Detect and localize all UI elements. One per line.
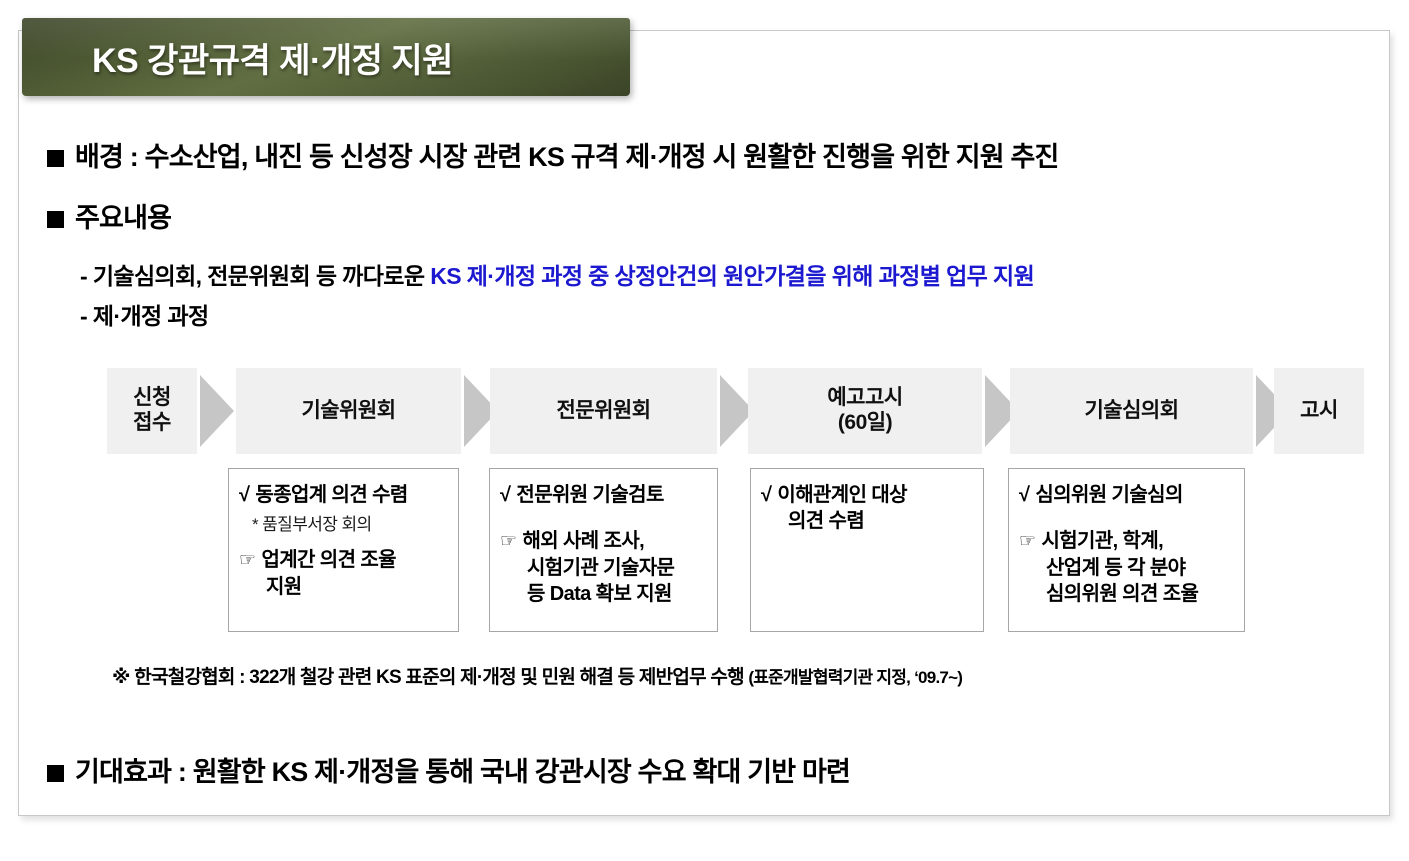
flow-step-3-line1: 예고고시 [827,386,902,409]
flow-step-3: 예고고시 (60일) [748,368,982,454]
detail-box-3-hand-text-line2: 산업계 등 각 분야 [1046,555,1236,581]
check-mark-icon: √ [500,482,510,508]
footnote-mark-icon: ※ [112,667,130,688]
page-title: KS 강관규격 제·개정 지원 [22,33,453,82]
detail-box-0-sub-note: * 품질부서장 회의 [252,510,450,535]
effect-bullet-row: 기대효과 : 원활한 KS 제·개정을 통해 국내 강관시장 수요 확대 기반 … [47,750,850,789]
detail-box-2-check-text: 이해관계인 대상 [777,482,907,508]
detail-box-3-check-row: √ 심의위원 기술심의 [1019,482,1236,508]
main-bullet-label: 주요내용 [75,196,171,235]
background-bullet-label: 배경 : 수소산업, 내진 등 신성장 시장 관련 KS 규격 제·개정 시 원… [75,135,1059,174]
flow-step-3-line2: (60일) [838,411,892,434]
flow-step-1-line1: 기술위원회 [301,399,395,424]
detail-box-1-hand-row: ☞ 해외 사례 조사, [500,528,709,554]
main-bullet-row: 주요내용 [47,196,171,235]
sub-item-2: - 제·개정 과정 [80,297,209,331]
detail-box-2: √ 이해관계인 대상 의견 수렴 [750,468,984,632]
check-mark-icon: √ [1019,482,1029,508]
detail-box-0: √ 동종업계 의견 수렴 * 품질부서장 회의 ☞ 업계간 의견 조율 지원 [228,468,459,632]
detail-box-0-check-row: √ 동종업계 의견 수렴 [239,482,450,508]
flow-arrow-0-icon [200,375,234,447]
check-mark-icon: √ [761,482,771,508]
flow-step-5-line1: 고시 [1300,399,1338,424]
detail-box-3-hand-row: ☞ 시험기관, 학계, [1019,528,1236,554]
square-bullet-icon [47,211,64,228]
slide-root: KS 강관규격 제·개정 지원 배경 : 수소산업, 내진 등 신성장 시장 관… [0,0,1409,861]
detail-box-3: √ 심의위원 기술심의 ☞ 시험기관, 학계, 산업계 등 각 분야 심의위원 … [1008,468,1245,632]
detail-box-0-hand-text: 업계간 의견 조율 [261,547,396,573]
detail-box-3-hand-text: 시험기관, 학계, [1041,528,1163,554]
pointing-hand-icon: ☞ [239,548,255,573]
detail-box-1-check-text: 전문위원 기술검토 [516,482,663,508]
footnote-tail: (표준개발협력기관 지정, ‘09.7~) [748,668,962,687]
detail-box-0-hand-text-line2: 지원 [266,574,450,600]
footnote-row: ※ 한국철강협회 : 322개 철강 관련 KS 표준의 제·개정 및 민원 해… [112,662,962,689]
pointing-hand-icon: ☞ [1019,529,1035,554]
background-bullet-row: 배경 : 수소산업, 내진 등 신성장 시장 관련 KS 규격 제·개정 시 원… [47,135,1059,174]
flow-step-2: 전문위원회 [490,368,717,454]
flow-step-4-line1: 기술심의회 [1084,399,1178,424]
detail-box-2-check-row: √ 이해관계인 대상 [761,482,975,508]
sub-item-1: - 기술심의회, 전문위원회 등 까다로운 KS 제·개정 과정 중 상정안건의… [80,257,1034,291]
detail-box-3-check-text: 심의위원 기술심의 [1035,482,1182,508]
flow-step-0-line1: 신청 [133,386,171,409]
detail-box-2-check-text-line2: 의견 수렴 [788,508,975,534]
sub-item-1-highlight: KS 제·개정 과정 중 상정안건의 원안가결을 위해 과정별 업무 지원 [430,263,1034,289]
check-mark-icon: √ [239,482,249,508]
process-flow: 신청 접수 기술위원회 전문위원회 예고고시 (60일) [107,368,1365,454]
detail-box-0-hand-row: ☞ 업계간 의견 조율 [239,547,450,573]
sub-item-1-prefix: - 기술심의회, 전문위원회 등 까다로운 [80,263,430,289]
flow-step-2-line1: 전문위원회 [556,399,650,424]
square-bullet-icon [47,150,64,167]
square-bullet-icon [47,765,64,782]
flow-step-0-line2: 접수 [133,411,171,434]
detail-box-1-hand-text-line2: 시험기관 기술자문 [527,555,709,581]
footnote-text: 한국철강협회 : 322개 철강 관련 KS 표준의 제·개정 및 민원 해결 … [134,667,744,688]
flow-step-0: 신청 접수 [107,368,197,454]
detail-box-1-hand-text-line3: 등 Data 확보 지원 [527,581,709,607]
slide-title-banner: KS 강관규격 제·개정 지원 [22,18,630,96]
detail-box-1-check-row: √ 전문위원 기술검토 [500,482,709,508]
flow-step-4: 기술심의회 [1010,368,1253,454]
detail-box-3-hand-text-line3: 심의위원 의견 조율 [1046,581,1236,607]
detail-box-0-check-text: 동종업계 의견 수렴 [255,482,407,508]
effect-bullet-label: 기대효과 : 원활한 KS 제·개정을 통해 국내 강관시장 수요 확대 기반 … [75,750,850,789]
flow-step-1: 기술위원회 [236,368,461,454]
pointing-hand-icon: ☞ [500,529,516,554]
flow-step-5: 고시 [1274,368,1364,454]
detail-box-1: √ 전문위원 기술검토 ☞ 해외 사례 조사, 시험기관 기술자문 등 Data… [489,468,718,632]
detail-box-1-hand-text: 해외 사례 조사, [522,528,644,554]
